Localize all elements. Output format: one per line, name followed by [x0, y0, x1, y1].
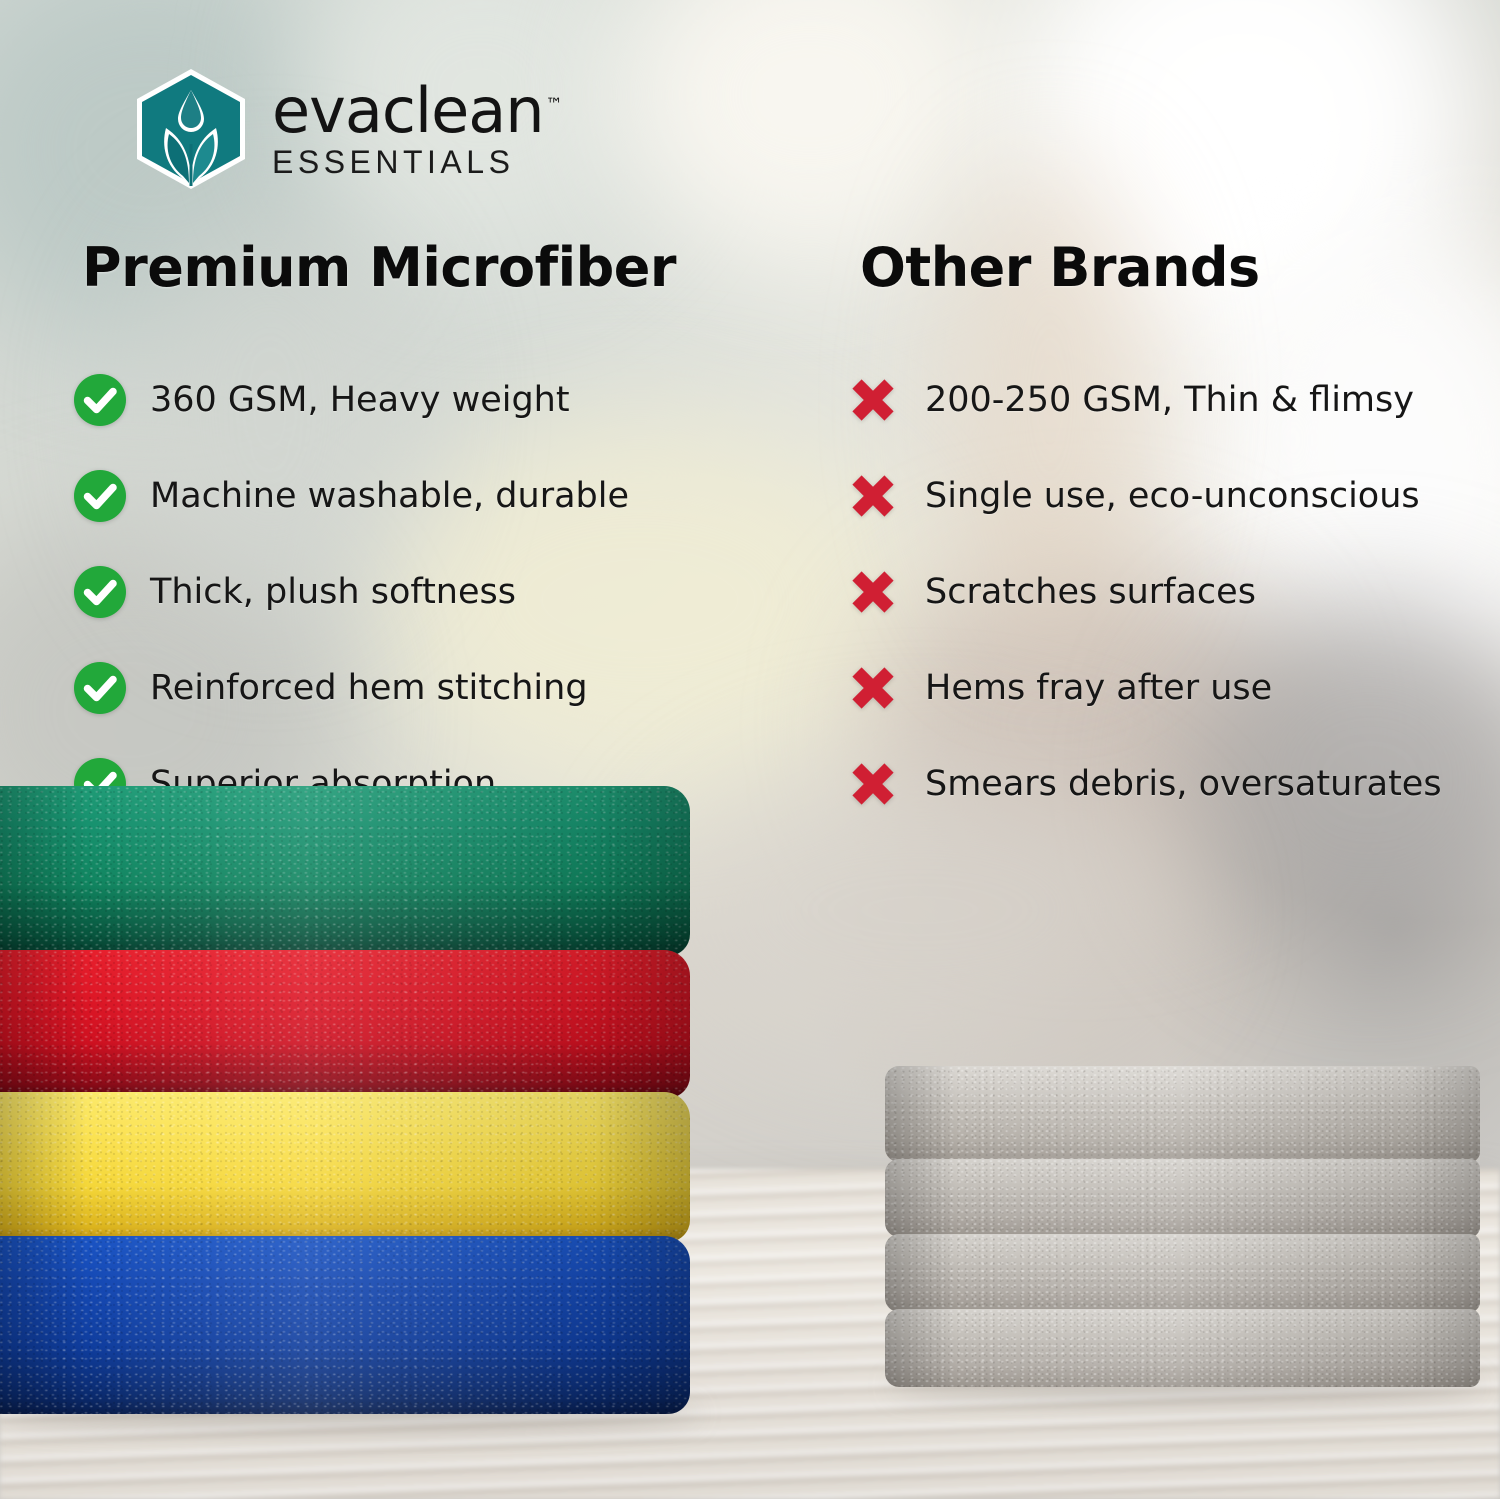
red-x-icon [845, 468, 901, 524]
list-item-label: Hems fray after use [925, 668, 1272, 708]
green-check-circle-icon [72, 564, 128, 620]
towel-grey [885, 1309, 1480, 1387]
towel-yellow [0, 1092, 690, 1242]
brand-tagline: ESSENTIALS [272, 144, 563, 181]
towel-green [0, 786, 690, 956]
list-item-label: Thick, plush softness [150, 572, 516, 612]
trademark-symbol: ™ [546, 95, 563, 115]
other-brands-feature-list: 200-250 GSM, Thin & flimsy Single use, e… [845, 368, 1500, 848]
red-x-icon [845, 660, 901, 716]
red-x-icon [845, 564, 901, 620]
red-x-icon [845, 372, 901, 428]
brand-lockup: evaclean™ ESSENTIALS [128, 66, 563, 192]
list-item: Smears debris, oversaturates [845, 752, 1500, 816]
towel-grey [885, 1159, 1480, 1237]
brand-name-text: evaclean [272, 74, 544, 147]
red-x-icon [845, 756, 901, 812]
green-check-circle-icon [72, 468, 128, 524]
list-item-label: Reinforced hem stitching [150, 668, 588, 708]
list-item: Reinforced hem stitching [72, 656, 772, 720]
list-item: Single use, eco-unconscious [845, 464, 1500, 528]
brand-name: evaclean™ [272, 81, 563, 141]
towel-grey [885, 1234, 1480, 1312]
towel-grey [885, 1066, 1480, 1162]
towel-blue [0, 1236, 690, 1414]
list-item: 200-250 GSM, Thin & flimsy [845, 368, 1500, 432]
green-check-circle-icon [72, 660, 128, 716]
brand-wordmark: evaclean™ ESSENTIALS [272, 77, 563, 182]
product-comparison-infographic: evaclean™ ESSENTIALS Premium Microfiber … [0, 0, 1500, 1499]
list-item-label: Smears debris, oversaturates [925, 764, 1442, 804]
towel-red [0, 950, 690, 1098]
list-item-label: Single use, eco-unconscious [925, 476, 1420, 516]
premium-feature-list: 360 GSM, Heavy weight Machine washable, … [72, 368, 772, 848]
premium-column-heading: Premium Microfiber [82, 236, 676, 299]
evaclean-hexagon-logo-icon [128, 66, 254, 192]
list-item: Machine washable, durable [72, 464, 772, 528]
list-item-label: Scratches surfaces [925, 572, 1256, 612]
list-item-label: Machine washable, durable [150, 476, 629, 516]
other-brand-towel-stack [885, 1066, 1480, 1387]
list-item: Scratches surfaces [845, 560, 1500, 624]
list-item-label: 360 GSM, Heavy weight [150, 380, 570, 420]
list-item-label: 200-250 GSM, Thin & flimsy [925, 380, 1414, 420]
premium-towel-stack [0, 786, 690, 1414]
other-column-heading: Other Brands [860, 236, 1260, 299]
list-item: Hems fray after use [845, 656, 1500, 720]
list-item: Thick, plush softness [72, 560, 772, 624]
list-item: 360 GSM, Heavy weight [72, 368, 772, 432]
green-check-circle-icon [72, 372, 128, 428]
